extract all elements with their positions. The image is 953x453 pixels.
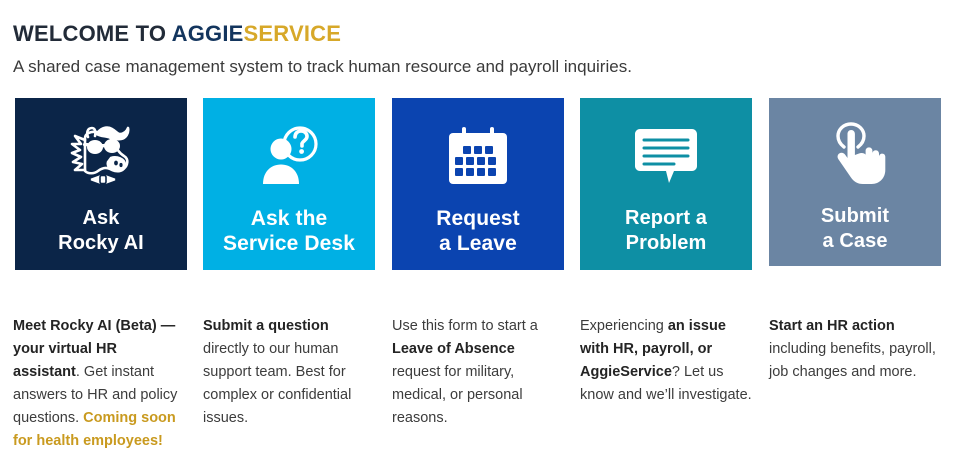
page-title-brand-aggie: AGGIE — [172, 21, 244, 46]
tile-title: Request a Leave — [436, 206, 520, 256]
tile-submit-a-case[interactable]: Submit a Case — [769, 98, 941, 266]
page-subtitle: A shared case management system to track… — [13, 56, 632, 78]
caption-bold-lead: Leave of Absence — [392, 341, 515, 357]
calendar-icon — [441, 114, 515, 200]
caption-body: including benefits, payroll, job changes… — [769, 341, 936, 380]
quick-action-tiles: Ask Rocky AI Ask the Service Desk — [0, 98, 953, 278]
tile-request-a-leave[interactable]: Request a Leave — [392, 98, 564, 270]
tile-title: Submit a Case — [821, 204, 889, 254]
caption-request-a-leave: Use this form to start a Leave of Absenc… — [392, 315, 564, 430]
caption-ask-rocky-ai: Meet Rocky AI (Beta) — your virtual HR a… — [13, 315, 185, 453]
speech-bubble-lines-icon — [629, 114, 703, 200]
caption-body: directly to our human support team. Best… — [203, 341, 351, 426]
page-title-brand-service: SERVICE — [244, 21, 342, 46]
caption-ask-the-service-desk: Submit a question directly to our human … — [203, 315, 375, 430]
tile-ask-rocky-ai[interactable]: Ask Rocky AI — [15, 98, 187, 270]
caption-bold-lead: Start an HR action — [769, 318, 895, 334]
caption-pre: Use this form to start a — [392, 318, 538, 334]
tile-title: Report a Problem — [625, 206, 707, 256]
welcome-page: WELCOME TO AGGIESERVICE A shared case ma… — [0, 0, 953, 427]
caption-pre: Experiencing — [580, 318, 668, 334]
tile-title: Ask the Service Desk — [223, 206, 355, 256]
person-question-bubble-icon — [252, 114, 326, 200]
tile-report-a-problem[interactable]: Report a Problem — [580, 98, 752, 270]
caption-body: request for military, medical, or person… — [392, 364, 523, 426]
caption-submit-a-case: Start an HR action including benefits, p… — [769, 315, 941, 384]
page-title-prefix: WELCOME TO — [13, 21, 172, 46]
tile-ask-the-service-desk[interactable]: Ask the Service Desk — [203, 98, 375, 270]
caption-report-a-problem: Experiencing an issue with HR, payroll, … — [580, 315, 752, 407]
caption-bold-lead: Submit a question — [203, 318, 329, 334]
tile-title: Ask Rocky AI — [58, 206, 144, 256]
page-title: WELCOME TO AGGIESERVICE — [13, 21, 341, 47]
horse-mascot-sunglasses-icon — [64, 114, 138, 200]
pointing-hand-click-icon — [818, 112, 892, 198]
